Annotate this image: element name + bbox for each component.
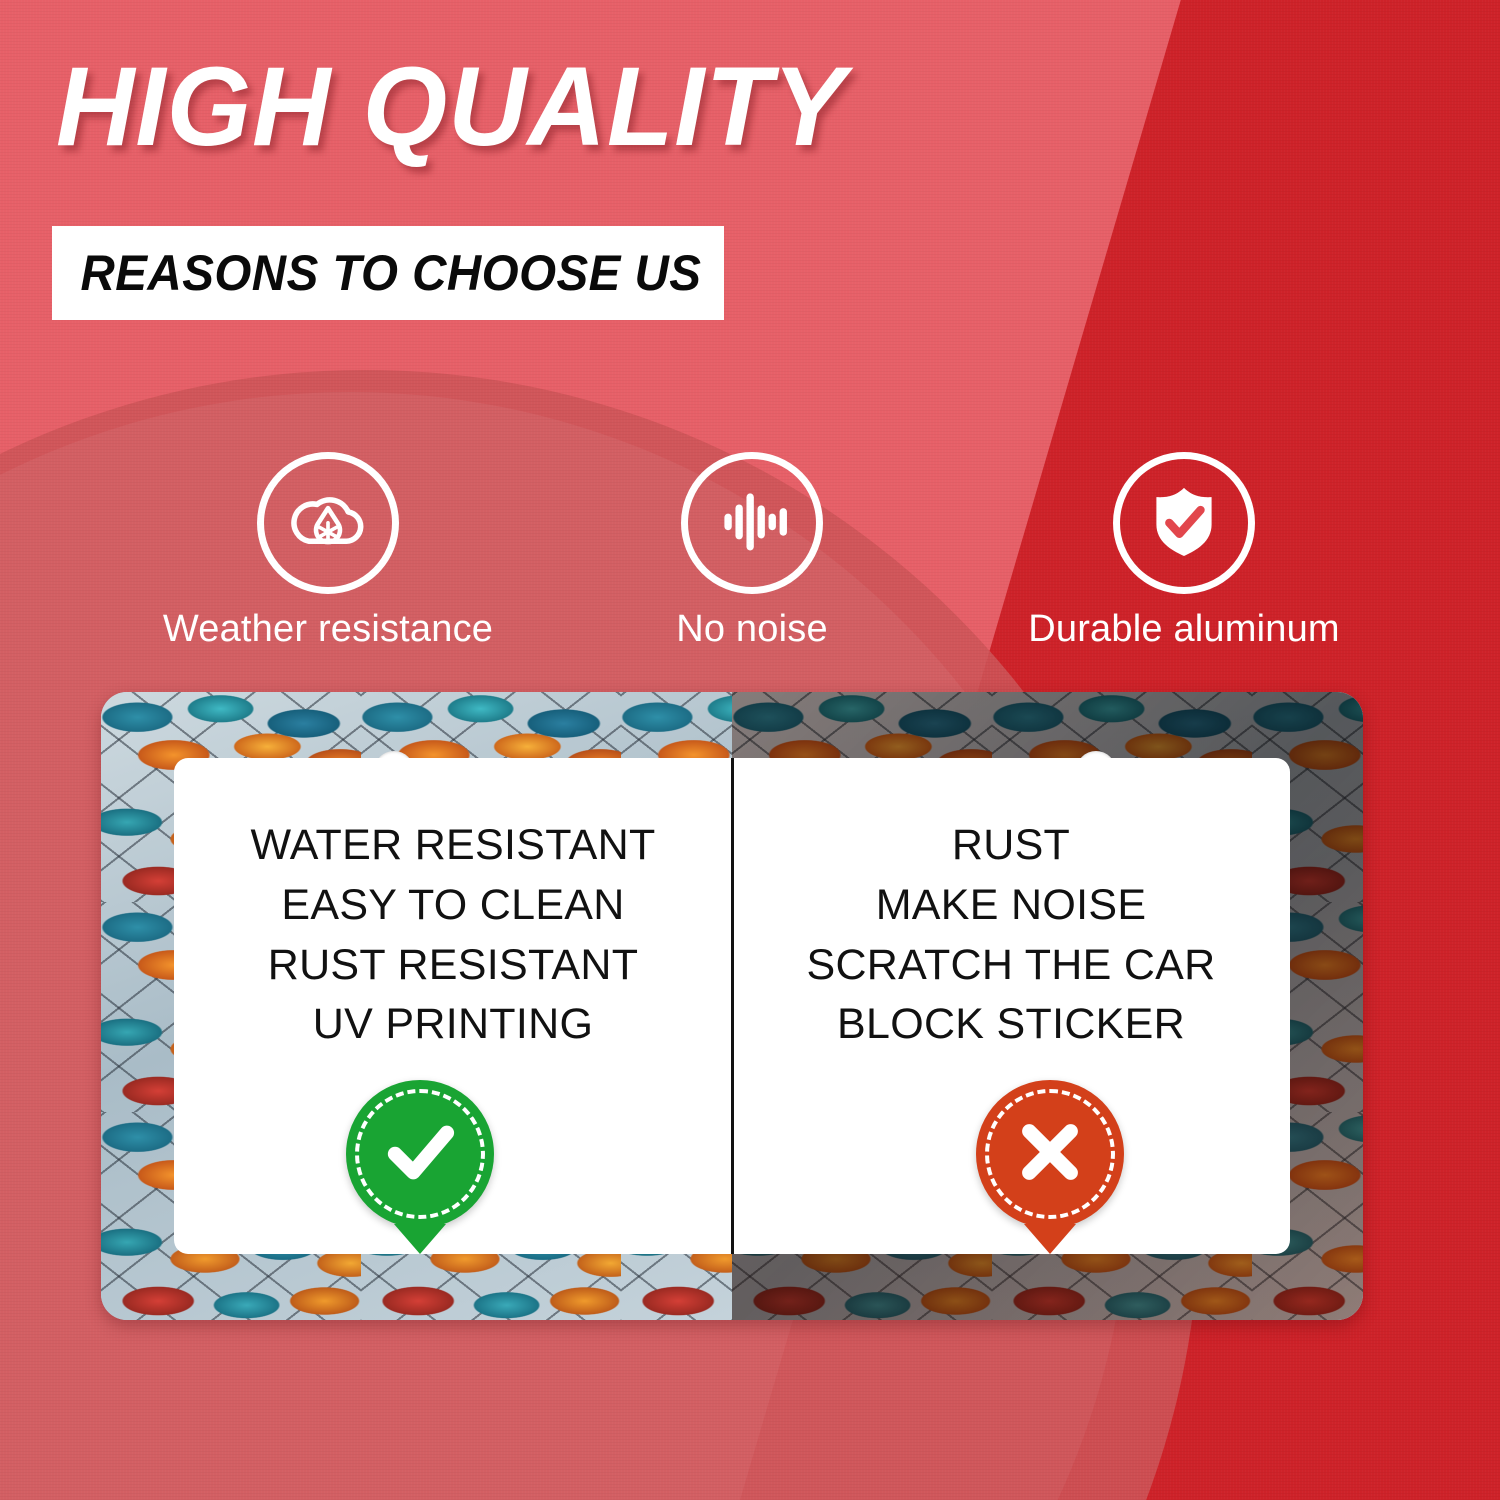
shield-check-icon: [1138, 475, 1230, 572]
page-title: HIGH QUALITY: [56, 42, 846, 171]
pros-line: WATER RESISTANT: [250, 816, 655, 876]
cons-line: BLOCK STICKER: [837, 995, 1185, 1055]
sound-wave-icon: [706, 475, 798, 572]
pros-line: EASY TO CLEAN: [281, 876, 624, 936]
feature-weather-resistance: Weather resistance: [152, 452, 504, 651]
cloud-droplet-snowflake-icon: [282, 475, 374, 572]
cons-line: SCRATCH THE CAR: [806, 936, 1215, 996]
feature-durable-aluminum: Durable aluminum: [1000, 452, 1368, 651]
feature-icon-ring: [1113, 452, 1255, 594]
subtitle-bar: REASONS TO CHOOSE US: [52, 226, 724, 320]
feature-no-noise: No noise: [608, 452, 896, 651]
license-plate-frame[interactable]: WATER RESISTANT EASY TO CLEAN RUST RESIS…: [101, 692, 1363, 1320]
cons-badge: [976, 1080, 1124, 1228]
feature-icon-ring: [257, 452, 399, 594]
feature-icon-ring: [681, 452, 823, 594]
pros-line: UV PRINTING: [313, 995, 593, 1055]
cross-mark-icon: [1005, 1107, 1095, 1202]
subtitle-text: REASONS TO CHOOSE US: [52, 244, 701, 302]
comparison-window: WATER RESISTANT EASY TO CLEAN RUST RESIS…: [174, 758, 1290, 1254]
pros-line: RUST RESISTANT: [268, 936, 639, 996]
feature-row: Weather resistance No noise: [0, 452, 1500, 672]
feature-label: No noise: [608, 608, 896, 651]
feature-label: Durable aluminum: [1000, 608, 1368, 651]
cons-line: MAKE NOISE: [876, 876, 1147, 936]
pros-badge: [346, 1080, 494, 1228]
check-mark-icon: [372, 1104, 468, 1205]
cons-line: RUST: [952, 816, 1070, 876]
feature-label: Weather resistance: [152, 608, 504, 651]
